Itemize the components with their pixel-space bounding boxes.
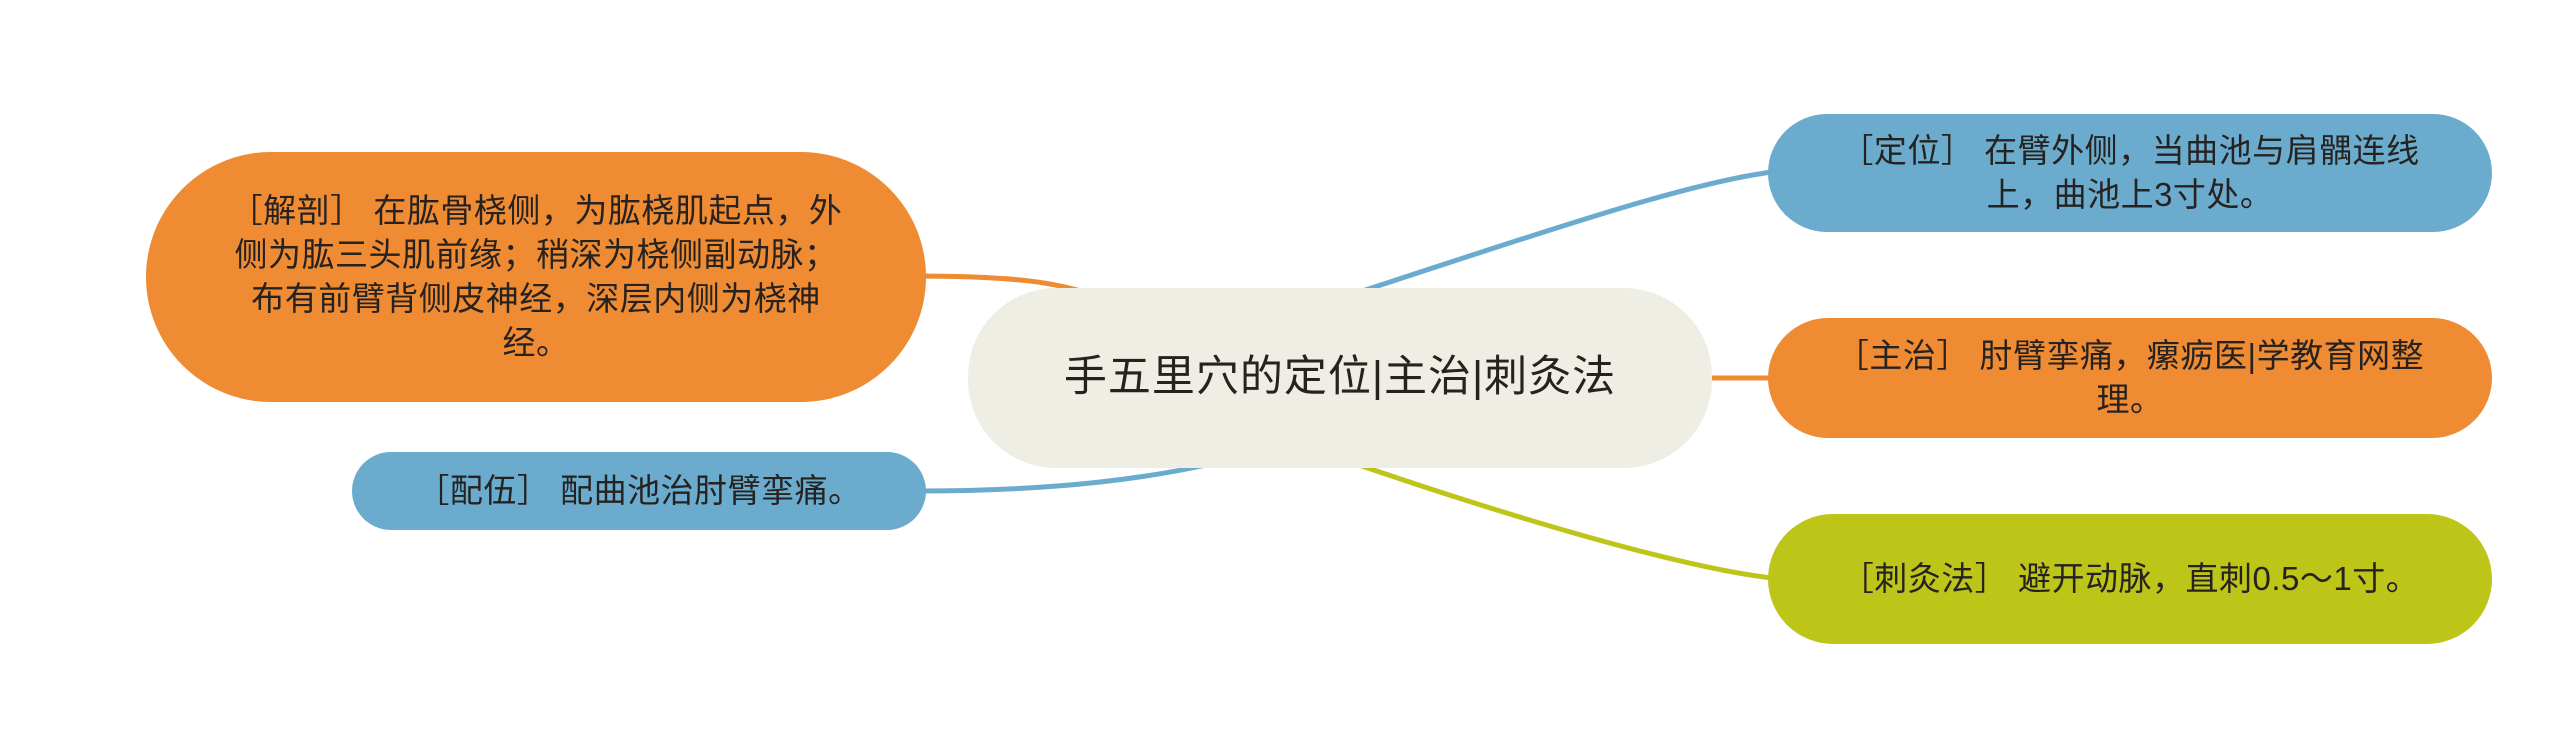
- edge-needling: [1356, 464, 1772, 578]
- branch-node-indication[interactable]: ［主治］ 肘臂挛痛，瘰疬医|学教育网整理。: [1768, 318, 2492, 438]
- branch-node-anatomy[interactable]: ［解剖］ 在肱骨桡侧，为肱桡肌起点，外侧为肱三头肌前缘；稍深为桡侧副动脉；布有前…: [146, 152, 926, 402]
- branch-node-compatibility-label: ［配伍］ 配曲池治肘臂挛痛。: [352, 469, 926, 513]
- edge-location: [1356, 172, 1772, 293]
- branch-node-location-label: ［定位］ 在臂外侧，当曲池与肩髃连线上，曲池上3寸处。: [1768, 129, 2492, 217]
- branch-node-anatomy-label: ［解剖］ 在肱骨桡侧，为肱桡肌起点，外侧为肱三头肌前缘；稍深为桡侧副动脉；布有前…: [146, 189, 926, 366]
- branch-node-needling[interactable]: ［刺灸法］ 避开动脉，直刺0.5～1寸。: [1768, 514, 2492, 644]
- central-topic-label: 手五里穴的定位|主治|刺灸法: [968, 349, 1712, 407]
- branch-node-compatibility[interactable]: ［配伍］ 配曲池治肘臂挛痛。: [352, 452, 926, 530]
- mindmap-canvas: ［解剖］ 在肱骨桡侧，为肱桡肌起点，外侧为肱三头肌前缘；稍深为桡侧副动脉；布有前…: [0, 0, 2560, 756]
- central-topic-node[interactable]: 手五里穴的定位|主治|刺灸法: [968, 288, 1712, 468]
- branch-node-needling-label: ［刺灸法］ 避开动脉，直刺0.5～1寸。: [1768, 557, 2492, 601]
- branch-node-location[interactable]: ［定位］ 在臂外侧，当曲池与肩髃连线上，曲池上3寸处。: [1768, 114, 2492, 232]
- branch-node-indication-label: ［主治］ 肘臂挛痛，瘰疬医|学教育网整理。: [1768, 334, 2492, 422]
